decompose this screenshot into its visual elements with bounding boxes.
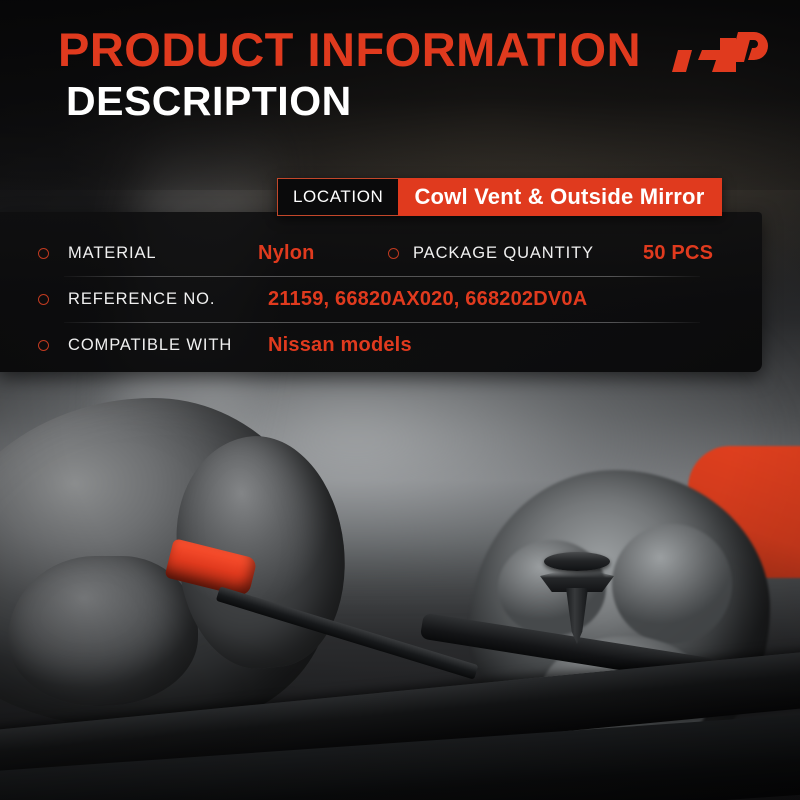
spec-value-package-quantity: 50 PCS [643, 242, 713, 265]
product-information-poster: PRODUCT INFORMATION DESCRIPTION MATERIAL… [0, 0, 800, 800]
location-bar: LOCATION Cowl Vent & Outside Mirror [277, 178, 722, 216]
table-row: MATERIAL Nylon PACKAGE QUANTITY 50 PCS [0, 230, 762, 276]
circle-outline-icon [38, 248, 49, 259]
spec-label-material: MATERIAL [68, 244, 258, 263]
push-retainer-clip-icon [540, 552, 614, 660]
a-premium-logo [672, 28, 778, 84]
spec-value-compatible-with: Nissan models [268, 334, 412, 357]
table-row: COMPATIBLE WITH Nissan models [0, 322, 762, 368]
clip-stem-icon [566, 588, 588, 644]
specification-panel: MATERIAL Nylon PACKAGE QUANTITY 50 PCS R… [0, 212, 762, 372]
finger-icon [612, 524, 732, 644]
circle-outline-icon [388, 248, 399, 259]
clip-head-icon [544, 552, 610, 571]
location-value: Cowl Vent & Outside Mirror [398, 178, 722, 216]
spec-value-material: Nylon [258, 242, 388, 265]
table-row: REFERENCE NO. 21159, 66820AX020, 668202D… [0, 276, 762, 322]
circle-outline-icon [38, 340, 49, 351]
circle-outline-icon [38, 294, 49, 305]
spec-label-compatible-with: COMPATIBLE WITH [68, 336, 268, 355]
specification-rows: MATERIAL Nylon PACKAGE QUANTITY 50 PCS R… [0, 230, 762, 368]
page-subtitle: DESCRIPTION [66, 80, 800, 123]
spec-label-package-quantity: PACKAGE QUANTITY [413, 244, 643, 263]
spec-label-reference-no: REFERENCE NO. [68, 290, 268, 309]
spec-value-reference-no: 21159, 66820AX020, 668202DV0A [268, 288, 587, 311]
location-tag-label: LOCATION [277, 178, 398, 216]
